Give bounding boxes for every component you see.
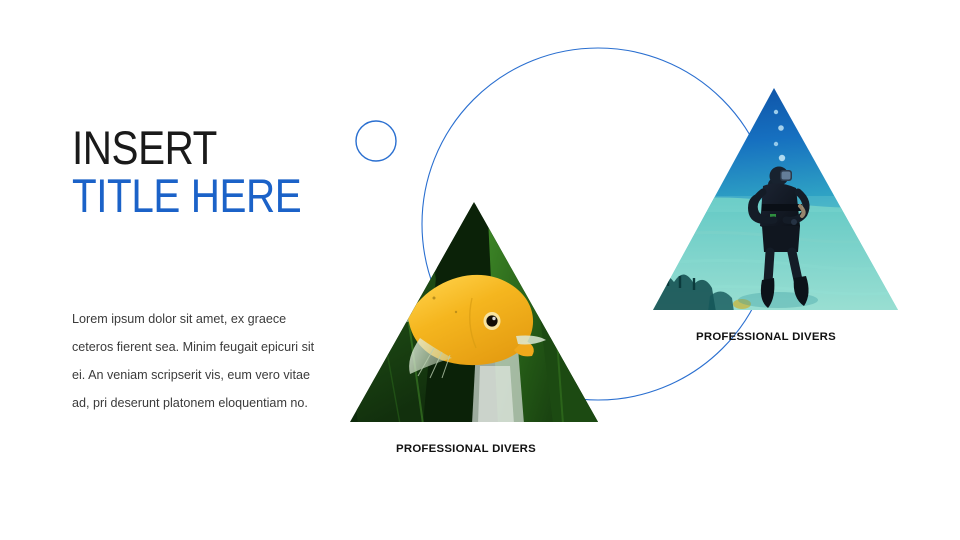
title-line-1: INSERT — [72, 124, 356, 172]
caption-fish-triangle: PROFESSIONAL DIVERS — [396, 443, 536, 455]
slide-canvas: INSERT TITLE HERE Lorem ipsum dolor sit … — [0, 0, 960, 540]
body-paragraph: Lorem ipsum dolor sit amet, ex graece ce… — [72, 305, 320, 417]
fish-triangle-image — [348, 198, 600, 424]
diver-triangle-image — [650, 86, 900, 312]
caption-diver-triangle: PROFESSIONAL DIVERS — [696, 331, 836, 343]
title-line-2: TITLE HERE — [72, 172, 356, 220]
